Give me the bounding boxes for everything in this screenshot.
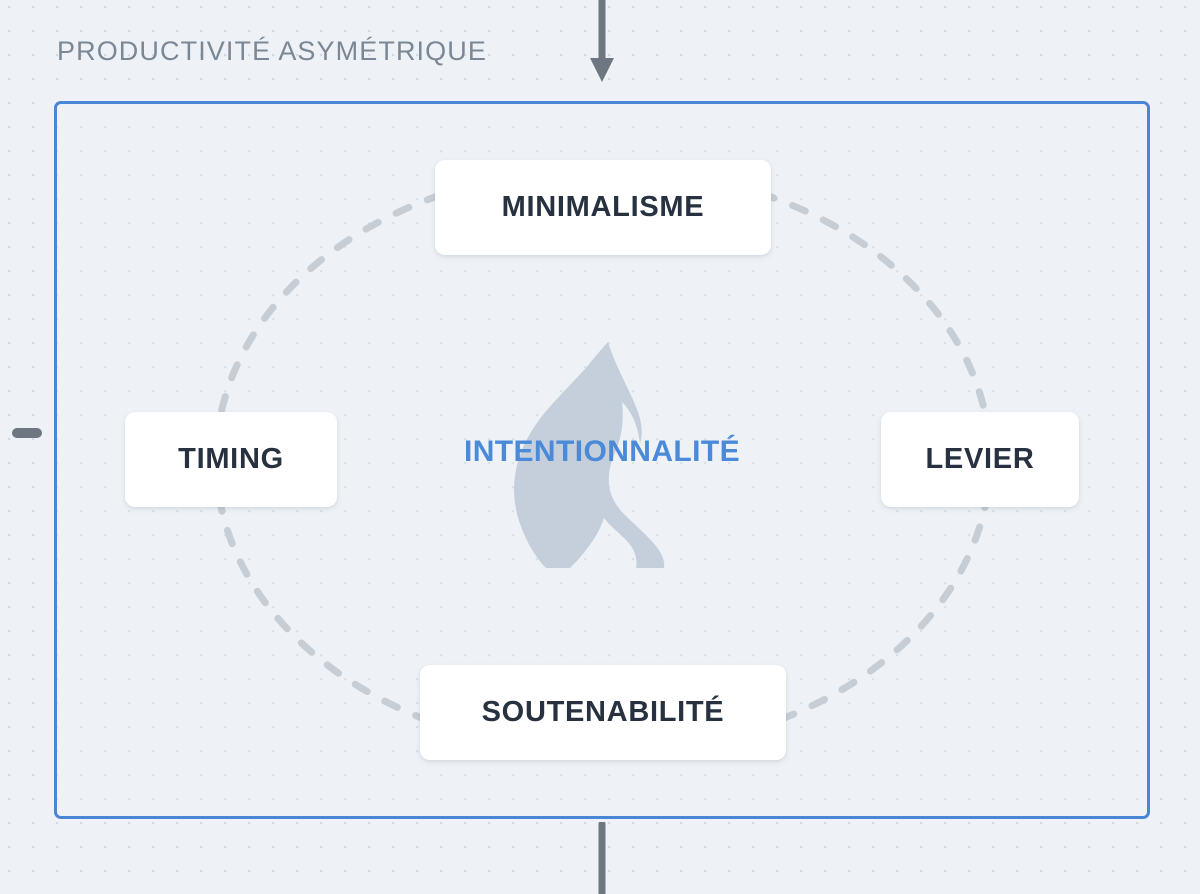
pillar-card-minimalisme[interactable]: MINIMALISME [435, 160, 771, 255]
inbound-arrow-down-icon [586, 0, 618, 94]
page-title: PRODUCTIVITÉ ASYMÉTRIQUE [57, 38, 487, 65]
pillar-card-label: SOUTENABILITÉ [482, 698, 725, 727]
pillar-card-label: TIMING [178, 445, 284, 474]
pillar-card-timing[interactable]: TIMING [125, 412, 337, 507]
pillar-card-label: LEVIER [926, 445, 1035, 474]
pillar-card-label: MINIMALISME [502, 193, 705, 222]
diagram-canvas: PRODUCTIVITÉ ASYMÉTRIQUE INTENTIONNALITÉ… [0, 0, 1200, 894]
outbound-line-down-icon [588, 822, 616, 894]
pillar-card-soutenabilite[interactable]: SOUTENABILITÉ [420, 665, 786, 760]
pillar-card-levier[interactable]: LEVIER [881, 412, 1079, 507]
